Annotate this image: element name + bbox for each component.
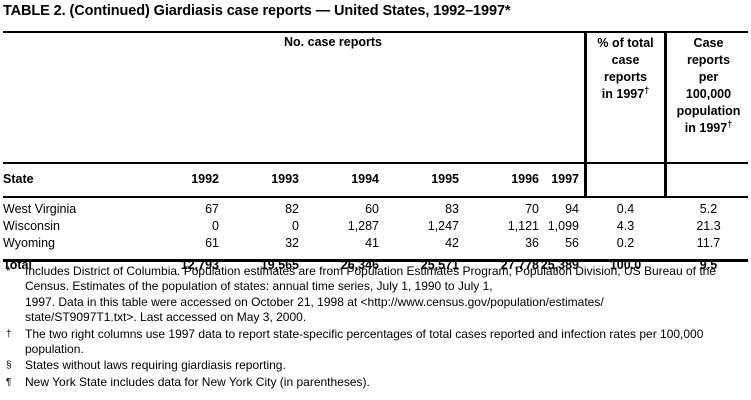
table-row: West Virginia 67 82 60 83 70 94 0.4 5.2 xyxy=(3,202,748,219)
footnote-dagger: † The two right columns use 1997 data to… xyxy=(3,327,751,358)
footnote-marker-section: § xyxy=(6,358,20,373)
footnote-text-asterisk: Includes District of Columbia. Populatio… xyxy=(25,264,751,326)
page-title: TABLE 2. (Continued) Giardiasis case rep… xyxy=(3,3,510,19)
column-header-row: State 1992 1993 1994 1995 1996 1997 xyxy=(3,172,748,194)
pct-header-line-2: case xyxy=(589,52,662,69)
cell-1995: 42 xyxy=(389,236,459,250)
column-header-year-1993: 1993 xyxy=(229,172,299,186)
cell-1997: 1,099 xyxy=(509,219,579,233)
cell-pct: 4.3 xyxy=(589,219,662,233)
footnote-text-section: States without laws requiring giardiasis… xyxy=(25,358,751,373)
footnote-marker-asterisk: * xyxy=(6,264,20,279)
rate-header-line-6-text: in 1997 xyxy=(685,121,727,135)
footnote-text-pilcrow: New York State includes data for New Yor… xyxy=(25,375,751,390)
group-header-no-case-reports: No. case reports xyxy=(93,35,573,49)
cell-1995: 1,247 xyxy=(389,219,459,233)
table-row: Wisconsin 0 0 1,287 1,247 1,121 1,099 4.… xyxy=(3,219,748,236)
cell-1994: 41 xyxy=(309,236,379,250)
footnote-asterisk: * Includes District of Columbia. Populat… xyxy=(3,264,751,326)
cell-1994: 1,287 xyxy=(309,219,379,233)
pct-header-footnote-marker: † xyxy=(644,85,649,95)
cell-rate: 11.7 xyxy=(669,236,748,250)
rate-header-line-1: Case xyxy=(669,35,748,52)
pct-header-line-1: % of total xyxy=(589,35,662,52)
cell-1993: 0 xyxy=(229,219,299,233)
rate-header-footnote-marker: † xyxy=(727,119,732,129)
column-header-year-1995: 1995 xyxy=(389,172,459,186)
footnote-pilcrow: ¶ New York State includes data for New Y… xyxy=(3,375,751,390)
cell-1995: 83 xyxy=(389,202,459,216)
cell-1992: 0 xyxy=(149,219,219,233)
cell-rate: 21.3 xyxy=(669,219,748,233)
footnotes: * Includes District of Columbia. Populat… xyxy=(3,264,751,391)
row-state-label: Wisconsin xyxy=(3,219,60,233)
footnote-text-dagger: The two right columns use 1997 data to r… xyxy=(25,327,751,358)
table-top-rule xyxy=(3,31,748,33)
footnote-marker-pilcrow: ¶ xyxy=(6,375,20,390)
pct-header-line-3: reports xyxy=(589,69,662,86)
cell-rate: 5.2 xyxy=(669,202,748,216)
pct-header-line-4-text: in 1997 xyxy=(602,87,644,101)
rate-header-line-6: in 1997† xyxy=(669,120,748,137)
footnote-marker-dagger: † xyxy=(6,327,20,342)
column-header-percent-of-total: % of total case reports in 1997† xyxy=(589,35,662,103)
cell-1997: 94 xyxy=(509,202,579,216)
cell-pct: 0.2 xyxy=(589,236,662,250)
row-state-label: Wyoming xyxy=(3,236,55,250)
column-header-case-reports-per-population: Case reports per 100,000 population in 1… xyxy=(669,35,748,137)
cell-pct: 0.4 xyxy=(589,202,662,216)
rate-header-line-5: population xyxy=(669,103,748,120)
cell-1992: 67 xyxy=(149,202,219,216)
rate-header-line-4: 100,000 xyxy=(669,86,748,103)
column-header-year-1997: 1997 xyxy=(509,172,579,186)
row-state-label: West Virginia xyxy=(3,202,76,216)
table-column-header-rule xyxy=(3,196,748,198)
cell-1993: 82 xyxy=(229,202,299,216)
table-page: TABLE 2. (Continued) Giardiasis case rep… xyxy=(0,0,751,400)
cell-1993: 32 xyxy=(229,236,299,250)
rate-header-line-3: per xyxy=(669,69,748,86)
table-header-divider-rule xyxy=(3,162,748,164)
cell-1994: 60 xyxy=(309,202,379,216)
table-row: Wyoming 61 32 41 42 36 56 0.2 11.7 xyxy=(3,236,748,253)
rate-header-line-2: reports xyxy=(669,52,748,69)
column-header-state: State xyxy=(3,172,34,186)
cell-1992: 61 xyxy=(149,236,219,250)
cell-1997: 56 xyxy=(509,236,579,250)
footnote-section: § States without laws requiring giardias… xyxy=(3,358,751,373)
column-header-year-1994: 1994 xyxy=(309,172,379,186)
column-header-year-1992: 1992 xyxy=(149,172,219,186)
pct-header-line-4: in 1997† xyxy=(589,86,662,103)
